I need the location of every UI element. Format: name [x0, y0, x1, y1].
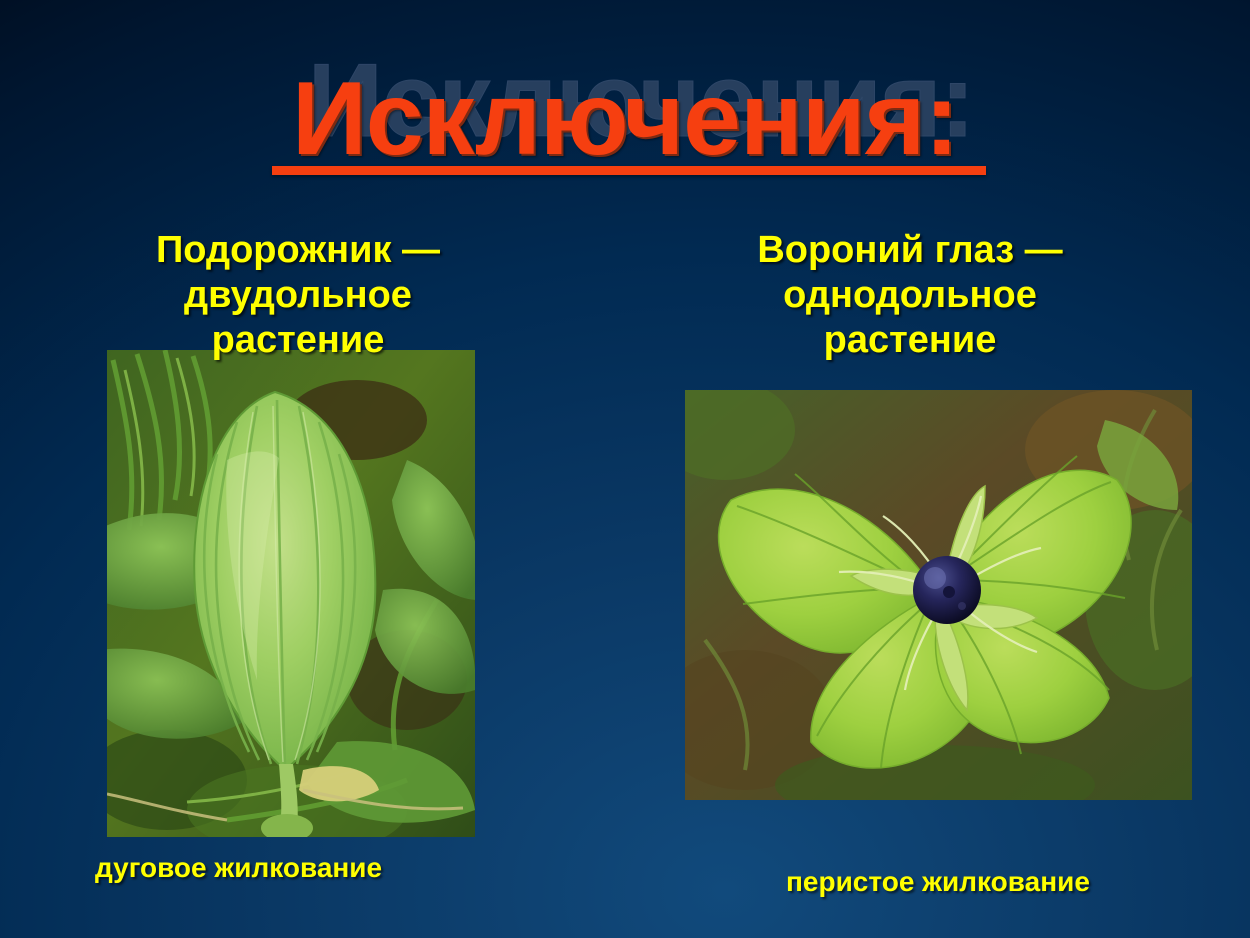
page-title-shadow: Исключения:: [308, 42, 974, 161]
vein-label-right: перистое жилкование: [786, 866, 1090, 898]
slide-canvas: Исключения: Исключения:: [0, 0, 1250, 938]
title-underline: [272, 166, 986, 175]
caption-left: Подорожник — двудольное растение: [48, 228, 548, 363]
herb-paris-photo: [685, 390, 1192, 800]
caption-right: Вороний глаз — однодольное растение: [660, 228, 1160, 363]
plantain-leaf-photo: [107, 350, 475, 837]
page-title: Исключения: Исключения:: [0, 60, 1250, 179]
vein-label-left: дуговое жилкование: [95, 852, 382, 884]
page-title-text: Исключения:: [292, 61, 958, 177]
herb-paris-illustration: [685, 390, 1192, 800]
plantain-leaf-illustration: [107, 350, 475, 837]
